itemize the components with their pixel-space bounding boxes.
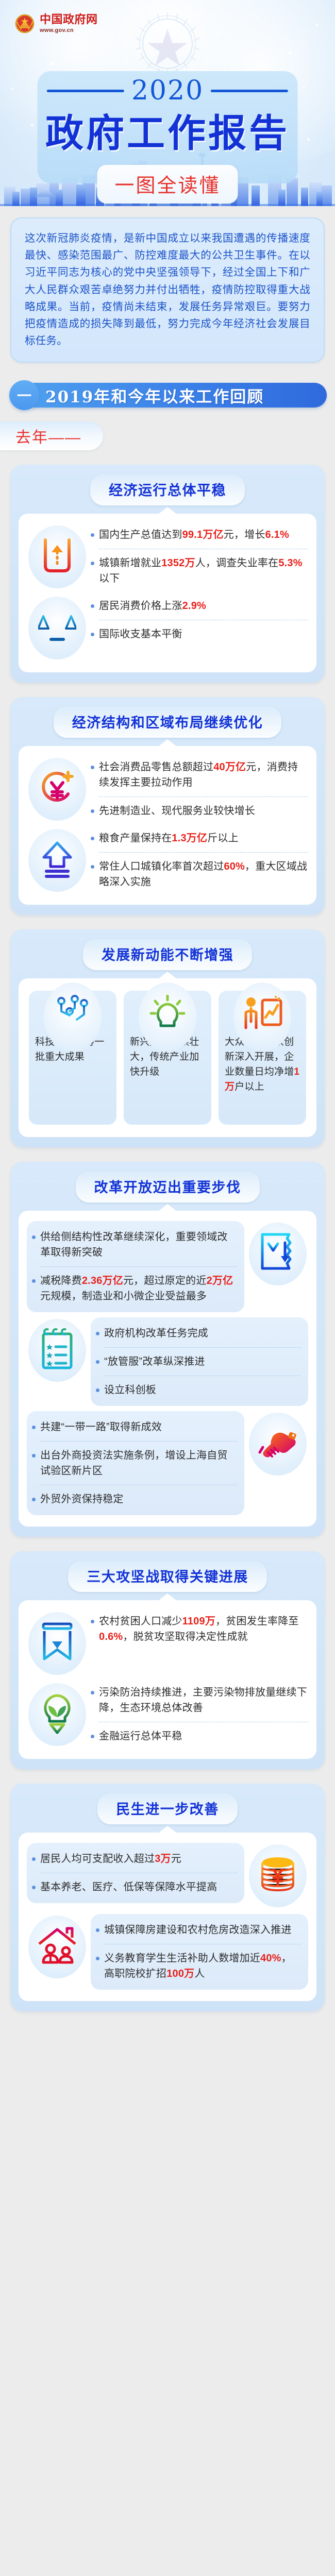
coin-stack-yuan-icon xyxy=(247,1843,308,1909)
feature-column: 大众创业万众创新深入开展，企业数量日均净增1万户以上 xyxy=(219,991,306,1125)
icon-bullet-group: 城镇保障房建设和农村危房改造深入推进义务教育学生生活补助人数增加近40%，高职院… xyxy=(27,1914,308,1990)
icon-bullet-group: 粮食产量保持在1.3万亿斤以上常住人口城镇化率首次超过60%，重大区域战略深入实… xyxy=(27,827,308,893)
topic-body: 国内生产总值达到99.1万亿元，增长6.1%城镇新增就业1352万人，调查失业率… xyxy=(19,514,316,672)
bullet-text: 基本养老、医疗、低保等保障水平提高 xyxy=(40,1879,237,1895)
bullet-text: 义务教育学生生活补助人数增加近40%，高职院校扩招100万人 xyxy=(104,1951,301,1981)
bullet-dot-icon xyxy=(32,1498,36,1501)
highlight-value: 3万 xyxy=(155,1853,171,1865)
topic-title-pill: 民生进一步改善 xyxy=(97,1793,238,1824)
topic-body: 供给侧结构性改革继续深化，重要领域改革取得新突破减税降费2.36万亿元，超过原定… xyxy=(19,1211,316,1527)
feature-column: 科技创新取得一批重大成果 xyxy=(29,991,116,1125)
bullet-dot-icon xyxy=(96,1360,99,1364)
highlight-value: 6.1% xyxy=(265,529,289,540)
bullet-item: 城镇新增就业1352万人，调查失业率在5.3%以下 xyxy=(91,555,308,586)
bullet-item: 常住人口城镇化率首次超过60%，重大区域战略深入实施 xyxy=(91,859,308,890)
poverty-down-bookmark-icon xyxy=(27,1611,88,1676)
highlight-value: 40万亿 xyxy=(213,761,246,773)
bullet-dot-icon xyxy=(32,1857,36,1861)
bullet-item: 居民消费价格上涨2.9% xyxy=(91,598,308,614)
lightbulb-idea-icon xyxy=(139,982,196,1052)
eco-leaf-bulb-icon xyxy=(27,1682,88,1748)
topic-card: 经济运行总体平稳 国内生产总值达到99.1万亿元，增长6.1%城镇新增就业135… xyxy=(10,465,325,683)
bullet-text: “放管服”改革纵深推进 xyxy=(104,1354,301,1369)
bullet-separator xyxy=(99,549,308,549)
bullet-text: 居民消费价格上涨2.9% xyxy=(99,598,308,614)
bullet-item: 国内生产总值达到99.1万亿元，增长6.1% xyxy=(91,527,308,543)
bullet-item: 设立科创板 xyxy=(96,1382,301,1398)
hero-subtitle: 一图全读懂 xyxy=(114,175,220,197)
bullet-list: 社会消费品零售总额超过40万亿元，消费持续发挥主要拉动作用先进制造业、现代服务业… xyxy=(91,756,308,819)
bullet-item: 减税降费2.36万亿元，超过原定的近2万亿元规模，制造业和小微企业受益最多 xyxy=(32,1273,237,1304)
hero-year-row: 2020 xyxy=(47,77,288,104)
bullet-dot-icon xyxy=(91,865,94,869)
icon-bullet-group: 居民人均可支配收入超过3万元基本养老、医疗、低保等保障水平提高 xyxy=(27,1843,308,1909)
balance-scale-icon xyxy=(27,595,88,661)
topic-title-pill: 经济结构和区域布局继续优化 xyxy=(54,706,282,738)
hero-banner: 中国政府网 www.gov.cn 2020 政府工作报告 一图全读懂 xyxy=(0,0,335,206)
bullet-separator xyxy=(40,1873,237,1873)
intro-card: 这次新冠肺炎疫情，是新中国成立以来我国遭遇的传播速度最快、感染范围最广、防控难度… xyxy=(10,217,325,363)
hero-rule-right xyxy=(211,90,288,92)
bullet-text: 供给侧结构性改革继续深化，重要领域改革取得新突破 xyxy=(40,1229,237,1260)
highlight-value: 5.3% xyxy=(278,557,302,569)
bullet-dot-icon xyxy=(32,1454,36,1458)
topic-title: 发展新动能不断增强 xyxy=(102,947,234,963)
bullet-text: 城镇保障房建设和农村危房改造深入推进 xyxy=(104,1922,301,1938)
feature-column: 新兴产业持续壮大，传统产业加快升级 xyxy=(124,991,211,1125)
bullet-item: 污染防治持续推进，主要污染物排放量继续下降，生态环境总体改善 xyxy=(91,1685,308,1716)
highlight-value: 1109万 xyxy=(182,1616,215,1627)
bullet-item: 农村贫困人口减少1109万，贫困发生率降至0.6%，脱贫攻坚取得决定性成就 xyxy=(91,1614,308,1645)
topic-title: 民生进一步改善 xyxy=(116,1802,219,1818)
bullet-item: “放管服”改革纵深推进 xyxy=(96,1354,301,1369)
topic-title: 经济结构和区域布局继续优化 xyxy=(72,715,263,731)
highlight-value: 0.6% xyxy=(99,1631,123,1642)
bullet-text: 共建“一带一路”取得新成效 xyxy=(40,1419,237,1435)
topic-body: 农村贫困人口减少1109万，贫困发生率降至0.6%，脱贫攻坚取得决定性成就 污染… xyxy=(19,1600,316,1759)
bullet-dot-icon xyxy=(96,1388,99,1392)
bullet-dot-icon xyxy=(91,766,94,769)
topic-card: 三大攻坚战取得关键进展 农村贫困人口减少1109万，贫困发生率降至0.6%，脱贫… xyxy=(10,1551,325,1769)
bullet-item: 居民人均可支配收入超过3万元 xyxy=(32,1851,237,1867)
bullet-dot-icon xyxy=(91,809,94,813)
bullet-list: 居民人均可支配收入超过3万元基本养老、医疗、低保等保障水平提高 xyxy=(27,1843,244,1903)
bullet-text: 外贸外资保持稳定 xyxy=(40,1492,237,1507)
bullet-text: 农村贫困人口减少1109万，贫困发生率降至0.6%，脱贫攻坚取得决定性成就 xyxy=(99,1614,308,1645)
intro-section: 这次新冠肺炎疫情，是新中国成立以来我国遭遇的传播速度最快、感染范围最广、防控难度… xyxy=(0,206,335,363)
bullet-list: 国内生产总值达到99.1万亿元，增长6.1%城镇新增就业1352万人，调查失业率… xyxy=(91,524,308,586)
bullet-dot-icon xyxy=(32,1235,36,1239)
bullet-separator xyxy=(40,1266,237,1267)
bullet-text: 出台外商投资法实施条例，增设上海自贸试验区新片区 xyxy=(40,1448,237,1479)
bullet-list: 城镇保障房建设和农村危房改造深入推进义务教育学生生活补助人数增加近40%，高职院… xyxy=(91,1914,308,1990)
icon-bullet-group: 农村贫困人口减少1109万，贫困发生率降至0.6%，脱贫攻坚取得决定性成就 xyxy=(27,1611,308,1676)
topic-title-pill: 发展新动能不断增强 xyxy=(83,939,253,970)
highlight-value: 2.36万亿 xyxy=(82,1275,123,1286)
bullet-dot-icon xyxy=(91,604,94,608)
topic-title: 改革开放迈出重要步伐 xyxy=(94,1180,241,1196)
bullet-item: 国际收支基本平衡 xyxy=(91,626,308,642)
bullet-dot-icon xyxy=(32,1426,36,1429)
bullet-list: 供给侧结构性改革继续深化，重要领域改革取得新突破减税降费2.36万亿元，超过原定… xyxy=(27,1221,244,1312)
bullet-text: 污染防治持续推进，主要污染物排放量继续下降，生态环境总体改善 xyxy=(99,1685,308,1716)
topic-body: 居民人均可支配收入超过3万元基本养老、医疗、低保等保障水平提高 xyxy=(19,1833,316,2001)
page-title: 政府工作报告 xyxy=(45,112,290,154)
intro-paragraph: 这次新冠肺炎疫情，是新中国成立以来我国遭遇的传播速度最快、感染范围最广、防控难度… xyxy=(25,230,310,349)
bullet-text: 设立科创板 xyxy=(104,1382,301,1398)
hero-subtitle-pill: 一图全读懂 xyxy=(97,165,238,204)
icon-bullet-group: 污染防治持续推进，主要污染物排放量继续下降，生态环境总体改善金融运行总体平稳 xyxy=(27,1682,308,1748)
bullet-item: 基本养老、医疗、低保等保障水平提高 xyxy=(32,1879,237,1895)
bullet-text: 国际收支基本平衡 xyxy=(99,626,308,642)
hero-rule-left xyxy=(47,90,124,92)
tax-cut-document-icon xyxy=(247,1221,308,1287)
bullet-text: 社会消费品零售总额超过40万亿元，消费持续发挥主要拉动作用 xyxy=(99,759,308,790)
bullet-text: 减税降费2.36万亿元，超过原定的近2万亿元规模，制造业和小微企业受益最多 xyxy=(40,1273,237,1304)
year-tag-label: 去年—— xyxy=(15,425,81,447)
bullet-dot-icon xyxy=(96,1332,99,1335)
icon-bullet-group: 政府机构改革任务完成“放管服”改革纵深推进设立科创板 xyxy=(27,1317,308,1406)
bullet-item: 社会消费品零售总额超过40万亿元，消费持续发挥主要拉动作用 xyxy=(91,759,308,790)
up-arrow-stack-icon xyxy=(27,827,88,893)
highlight-value: 100万 xyxy=(166,1968,194,1979)
topic-card: 民生进一步改善居民人均可支配收入超过3万元基本养老、医疗、低保等保障水平提高 xyxy=(10,1784,325,2011)
bullet-list: 居民消费价格上涨2.9%国际收支基本平衡 xyxy=(91,595,308,642)
bullet-dot-icon xyxy=(91,1620,94,1623)
bullet-text: 城镇新增就业1352万人，调查失业率在5.3%以下 xyxy=(99,555,308,586)
bullet-dot-icon xyxy=(91,837,94,840)
highlight-value: 2万亿 xyxy=(207,1275,233,1286)
bullet-separator xyxy=(40,1441,237,1442)
national-emblem-icon xyxy=(14,13,35,34)
topic-cards-container: 经济运行总体平稳 国内生产总值达到99.1万亿元，增长6.1%城镇新增就业135… xyxy=(0,465,335,2011)
bullet-dot-icon xyxy=(91,1735,94,1738)
yuan-plus-icon xyxy=(27,756,88,822)
topic-title: 三大攻坚战取得关键进展 xyxy=(87,1569,248,1585)
icon-bullet-group: 国内生产总值达到99.1万亿元，增长6.1%城镇新增就业1352万人，调查失业率… xyxy=(27,524,308,590)
topic-title-pill: 三大攻坚战取得关键进展 xyxy=(68,1561,267,1592)
bullet-item: 共建“一带一路”取得新成效 xyxy=(32,1419,237,1435)
bullet-separator xyxy=(104,1944,301,1944)
bullet-separator xyxy=(104,1376,301,1376)
bullet-text: 居民人均可支配收入超过3万元 xyxy=(40,1851,237,1867)
section-title: 2019年和今年以来工作回顾 xyxy=(45,384,264,407)
circuit-tech-icon xyxy=(44,982,102,1052)
bullet-list: 农村贫困人口减少1109万，贫困发生率降至0.6%，脱贫攻坚取得决定性成就 xyxy=(91,1611,308,1645)
bullet-text: 金融运行总体平稳 xyxy=(99,1728,308,1744)
icon-bullet-group: 共建“一带一路”取得新成效出台外商投资法实施条例，增设上海自贸试验区新片区外贸外… xyxy=(27,1411,308,1515)
bullet-text: 常住人口城镇化率首次超过60%，重大区域战略深入实施 xyxy=(99,859,308,890)
bullet-item: 金融运行总体平稳 xyxy=(91,1728,308,1744)
highlight-value: 40% xyxy=(260,1953,281,1964)
highlight-value: 1.3万亿 xyxy=(172,833,207,844)
bullet-text: 政府机构改革任务完成 xyxy=(104,1326,301,1341)
year-tag: 去年—— xyxy=(0,421,103,450)
handshake-icon xyxy=(247,1411,308,1477)
bullet-dot-icon xyxy=(91,562,94,565)
icon-bullet-group: 居民消费价格上涨2.9%国际收支基本平衡 xyxy=(27,595,308,661)
hero-year: 2020 xyxy=(131,77,204,104)
bullet-separator xyxy=(99,852,308,853)
bullet-separator xyxy=(99,620,308,620)
bullet-dot-icon xyxy=(96,1957,99,1960)
person-chart-growth-icon xyxy=(233,982,291,1052)
bullet-separator xyxy=(40,1485,237,1485)
bullet-list: 政府机构改革任务完成“放管服”改革纵深推进设立科创板 xyxy=(91,1317,308,1406)
gov-logo[interactable]: 中国政府网 www.gov.cn xyxy=(14,13,98,34)
three-column-group: 科技创新取得一批重大成果 新兴产业持续壮大，传统产业加快升级 xyxy=(27,989,308,1126)
bullet-list: 污染防治持续推进，主要污染物排放量继续下降，生态环境总体改善金融运行总体平稳 xyxy=(91,1682,308,1744)
checklist-clipboard-icon xyxy=(27,1317,88,1383)
bullet-dot-icon xyxy=(32,1279,36,1283)
bullet-dot-icon xyxy=(96,1928,99,1932)
topic-body: 科技创新取得一批重大成果 新兴产业持续壮大，传统产业加快升级 xyxy=(19,978,316,1137)
bullet-dot-icon xyxy=(91,633,94,636)
section-header-one: 一 2019年和今年以来工作回顾 xyxy=(9,380,335,410)
bullet-text: 粮食产量保持在1.3万亿斤以上 xyxy=(99,831,308,846)
highlight-value: 1万 xyxy=(225,1066,299,1092)
page-bottom-spacer xyxy=(0,2011,335,2035)
highlight-value: 99.1万亿 xyxy=(182,529,224,540)
bullet-item: 先进制造业、现代服务业较快增长 xyxy=(91,803,308,819)
bullet-separator xyxy=(104,1347,301,1348)
topic-title-pill: 经济运行总体平稳 xyxy=(90,474,245,505)
topic-card: 改革开放迈出重要步伐供给侧结构性改革继续深化，重要领域改革取得新突破减税降费2.… xyxy=(10,1162,325,1537)
bullet-separator xyxy=(99,796,308,797)
topic-title: 经济运行总体平稳 xyxy=(109,483,226,499)
bullet-item: 粮食产量保持在1.3万亿斤以上 xyxy=(91,831,308,846)
topic-card: 发展新动能不断增强 科技创新取得一批重大成果 xyxy=(10,929,325,1147)
icon-bullet-group: 社会消费品零售总额超过40万亿元，消费持续发挥主要拉动作用先进制造业、现代服务业… xyxy=(27,756,308,822)
bullet-text: 先进制造业、现代服务业较快增长 xyxy=(99,803,308,819)
bullet-item: 政府机构改革任务完成 xyxy=(96,1326,301,1341)
bullet-dot-icon xyxy=(91,533,94,537)
infographic-page: 中国政府网 www.gov.cn 2020 政府工作报告 一图全读懂 xyxy=(0,0,335,2035)
highlight-value: 2.9% xyxy=(182,600,206,612)
bullet-separator xyxy=(99,1722,308,1722)
house-family-icon xyxy=(27,1914,88,1980)
bullet-item: 外贸外资保持稳定 xyxy=(32,1492,237,1507)
highlight-value: 1352万 xyxy=(161,557,195,569)
up-arrow-growth-icon xyxy=(27,524,88,590)
highlight-value: 60% xyxy=(224,861,245,872)
bullet-dot-icon xyxy=(32,1886,36,1889)
icon-bullet-group: 供给侧结构性改革继续深化，重要领域改革取得新突破减税降费2.36万亿元，超过原定… xyxy=(27,1221,308,1312)
bullet-item: 城镇保障房建设和农村危房改造深入推进 xyxy=(96,1922,301,1938)
bullet-text: 国内生产总值达到99.1万亿元，增长6.1% xyxy=(99,527,308,543)
gov-logo-name: 中国政府网 xyxy=(40,14,98,26)
bullet-list: 共建“一带一路”取得新成效出台外商投资法实施条例，增设上海自贸试验区新片区外贸外… xyxy=(27,1411,244,1515)
topic-body: 社会消费品零售总额超过40万亿元，消费持续发挥主要拉动作用先进制造业、现代服务业… xyxy=(19,746,316,905)
topic-title-pill: 改革开放迈出重要步伐 xyxy=(76,1171,260,1202)
bullet-list: 粮食产量保持在1.3万亿斤以上常住人口城镇化率首次超过60%，重大区域战略深入实… xyxy=(91,827,308,890)
bullet-dot-icon xyxy=(91,1691,94,1694)
gov-logo-url: www.gov.cn xyxy=(40,28,98,33)
topic-card: 经济结构和区域布局继续优化 社会消费品零售总额超过40万亿元，消费持续发挥主要拉… xyxy=(10,697,325,915)
bullet-item: 出台外商投资法实施条例，增设上海自贸试验区新片区 xyxy=(32,1448,237,1479)
bullet-item: 义务教育学生生活补助人数增加近40%，高职院校扩招100万人 xyxy=(96,1951,301,1981)
bullet-item: 供给侧结构性改革继续深化，重要领域改革取得新突破 xyxy=(32,1229,237,1260)
